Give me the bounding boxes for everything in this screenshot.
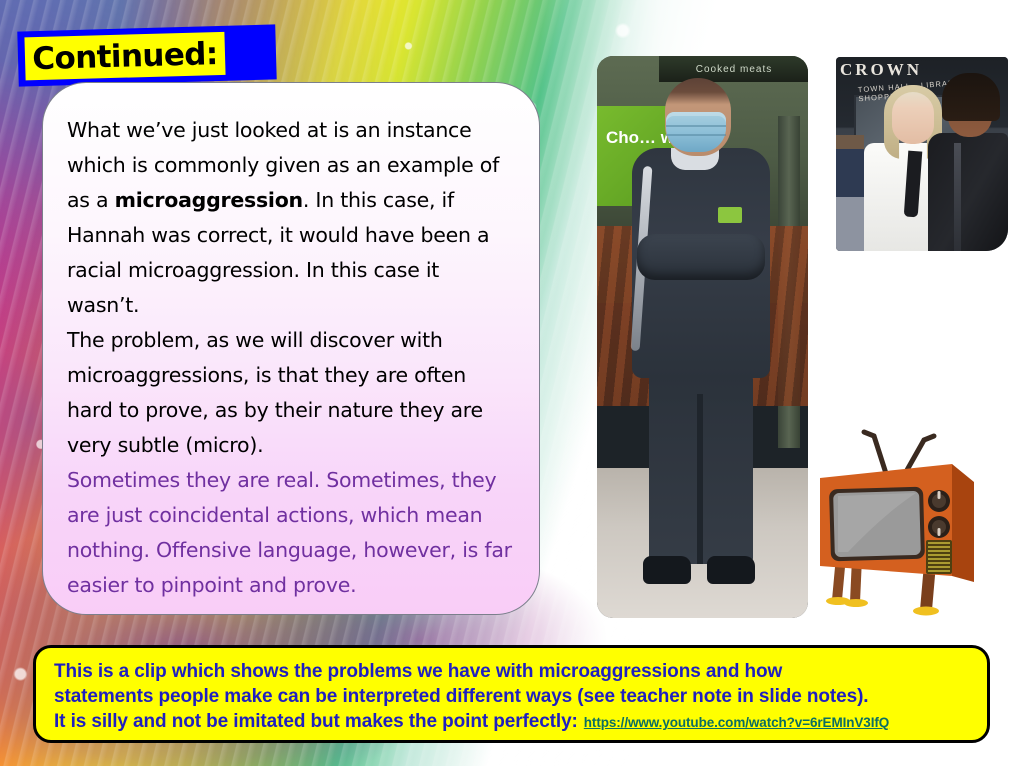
callout-line-2: statements people make can be interprete…	[54, 684, 971, 709]
worker-right-shoe	[707, 556, 755, 584]
callout-line-3-text: It is silly and not be imitated but make…	[54, 711, 578, 732]
paragraph-1-keyword: microaggression	[115, 188, 303, 212]
main-text-panel: What we’ve just looked at is an instance…	[42, 82, 540, 615]
worker-crossed-arms	[637, 234, 765, 280]
paragraph-3: Sometimes they are real. Sometimes, they…	[67, 463, 513, 603]
page-title: Continued:	[32, 36, 218, 77]
slide-canvas: Continued: What we’ve just looked at is …	[0, 0, 1021, 766]
worker-left-shoe	[643, 556, 691, 584]
photo-aisle-sign: Cooked meats	[659, 56, 808, 82]
photo-two-schoolgirls: CROWN TOWN HALL · LIBRARY · SHOPPING	[836, 57, 1008, 251]
retro-tv-illustration	[812, 418, 990, 616]
worker-legs	[649, 374, 753, 564]
title-banner: Continued:	[17, 24, 276, 86]
girl1-head	[892, 92, 934, 144]
photo-supermarket-worker: Cooked meats Cho… with…	[597, 56, 808, 618]
retro-tv-icon	[812, 418, 990, 616]
photo-bystander	[836, 135, 864, 251]
girl2-hair	[942, 73, 1000, 121]
teacher-note-callout: This is a clip which shows the problems …	[33, 645, 990, 743]
title-highlight-block: Continued:	[24, 32, 225, 81]
callout-line-1: This is a clip which shows the problems …	[54, 659, 971, 684]
shopfront-sign-name: CROWN	[840, 60, 922, 80]
paragraph-1: What we’ve just looked at is an instance…	[67, 113, 513, 323]
tv-speaker-grille	[926, 540, 952, 574]
paragraph-2: The problem, as we will discover with mi…	[67, 323, 513, 463]
tv-cabinet-side	[952, 464, 974, 582]
worker-name-badge	[718, 207, 742, 223]
girl2-coat	[928, 133, 1008, 251]
face-mask-icon	[666, 112, 726, 152]
callout-line-3: It is silly and not be imitated but make…	[54, 709, 971, 735]
youtube-link[interactable]: https://www.youtube.com/watch?v=6rEMInV3…	[584, 715, 889, 730]
